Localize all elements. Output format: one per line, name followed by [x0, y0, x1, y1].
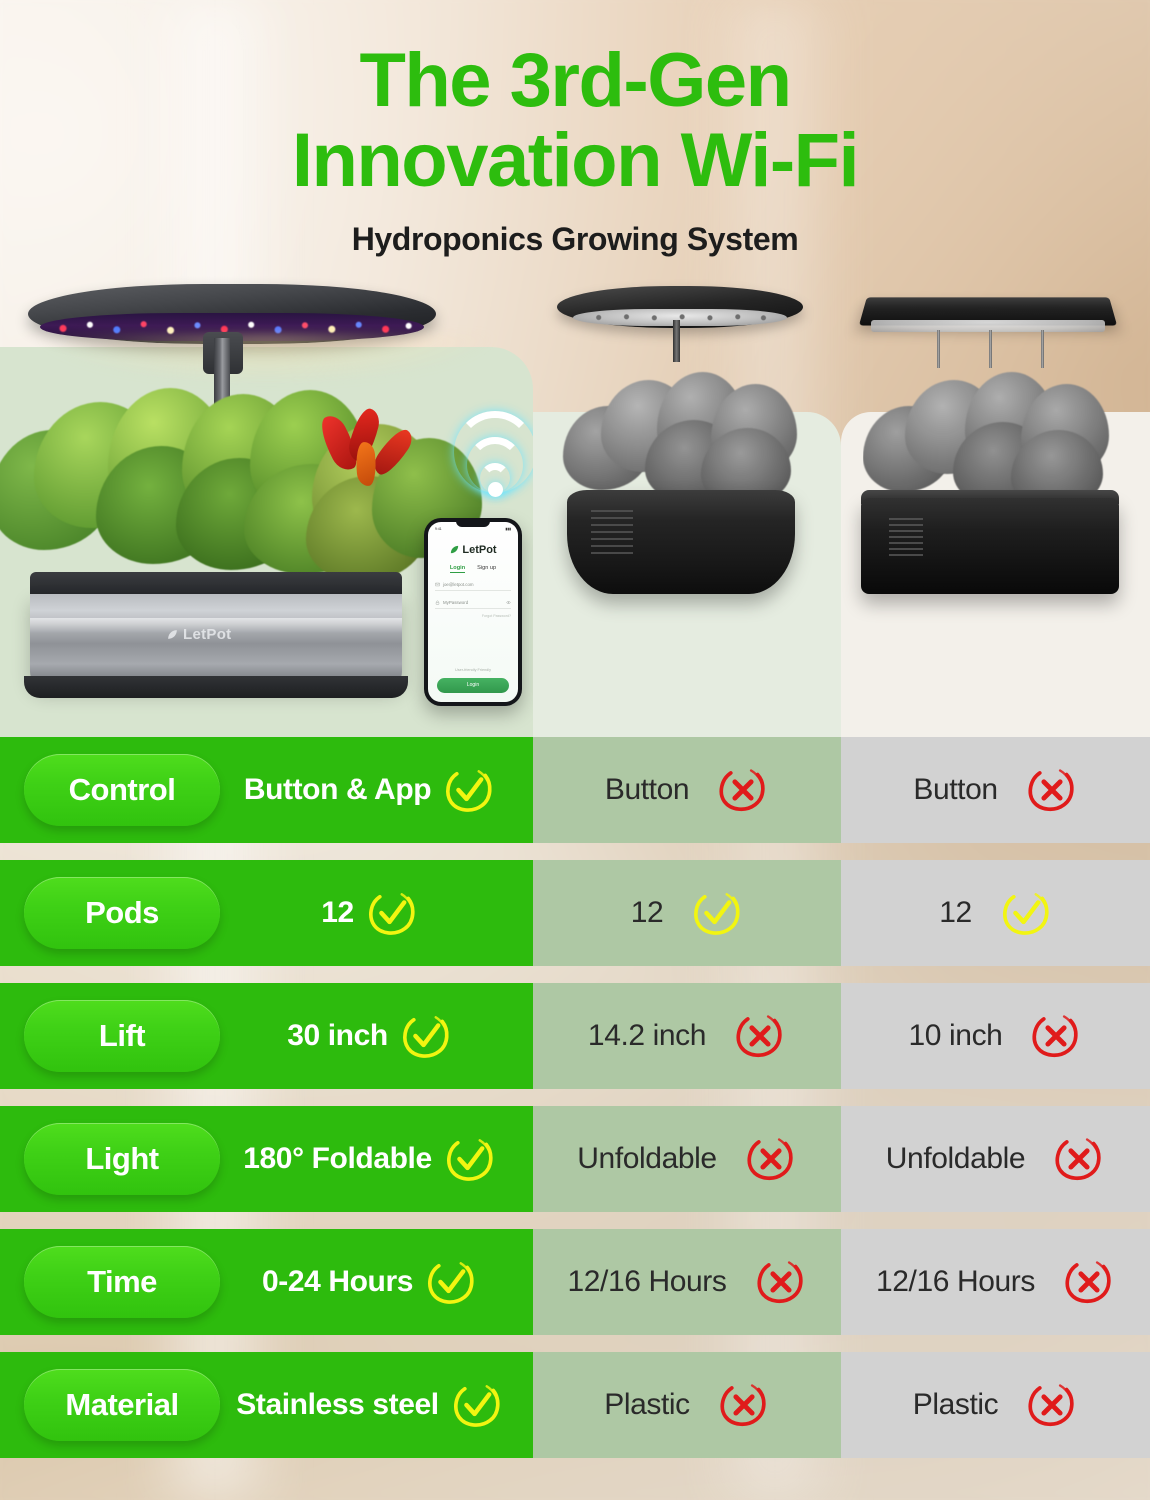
cell-competitor-b: 14.2 inch	[533, 983, 841, 1089]
row-separator	[0, 1212, 1150, 1229]
cross-icon	[745, 1133, 797, 1185]
hero-value-group: 180° Foldable	[220, 1133, 533, 1185]
check-icon	[451, 1379, 503, 1431]
row-label: Light	[85, 1141, 158, 1177]
check-icon	[691, 887, 743, 939]
cell-hero: Light180° Foldable	[0, 1106, 533, 1212]
competitor-c-value: Plastic	[913, 1388, 999, 1422]
comparison-table: ControlButton & AppButtonButtonPods12121…	[0, 737, 1150, 1458]
product-competitor-b	[533, 272, 841, 737]
page-title: The 3rd-Gen Innovation Wi-Fi	[0, 44, 1150, 199]
leaf-icon	[449, 544, 460, 555]
competitor-b-pole	[673, 320, 680, 362]
device-foot	[24, 676, 408, 698]
row-label-pill: Light	[24, 1123, 220, 1195]
cell-competitor-c: 12	[841, 860, 1150, 966]
competitor-b-device	[533, 272, 841, 737]
app-tabs: Login Sign up	[435, 565, 511, 573]
cell-hero: ControlButton & App	[0, 737, 533, 843]
competitor-b-value: 12/16 Hours	[567, 1265, 726, 1299]
row-label-pill: Material	[24, 1369, 220, 1441]
row-separator	[0, 1335, 1150, 1352]
cell-hero: Time0-24 Hours	[0, 1229, 533, 1335]
cross-icon	[1030, 1010, 1082, 1062]
competitor-b-value: 14.2 inch	[588, 1019, 706, 1053]
comparison-row: Time0-24 Hours12/16 Hours12/16 Hours	[0, 1229, 1150, 1335]
forgot-password-link[interactable]: Forgot Password?	[435, 614, 511, 618]
cross-icon	[1063, 1256, 1115, 1308]
check-icon	[400, 1010, 452, 1062]
check-icon	[443, 764, 495, 816]
page-subtitle: Hydroponics Growing System	[0, 221, 1150, 258]
email-value: joe@letpot.com	[443, 582, 474, 587]
cell-hero: Lift30 inch	[0, 983, 533, 1089]
cell-competitor-b: 12/16 Hours	[533, 1229, 841, 1335]
competitor-b-value: Plastic	[604, 1388, 690, 1422]
hero-value-group: Button & App	[220, 764, 533, 816]
competitor-b-value: 12	[631, 896, 664, 930]
eye-icon[interactable]	[506, 600, 511, 605]
title-line-1: The 3rd-Gen	[359, 38, 790, 123]
product-competitor-c	[841, 272, 1150, 737]
hero-value-group: 12	[220, 887, 533, 939]
row-label: Control	[69, 772, 176, 808]
cell-competitor-b: Plastic	[533, 1352, 841, 1458]
hero-value-group: Stainless steel	[220, 1379, 533, 1431]
competitor-b-control-panel	[591, 510, 633, 554]
competitor-c-value-group: 12	[939, 887, 1052, 939]
page-header: The 3rd-Gen Innovation Wi-Fi Hydroponics…	[0, 0, 1150, 258]
competitor-c-device	[841, 272, 1150, 737]
competitor-c-value-group: 12/16 Hours	[876, 1256, 1115, 1308]
competitor-c-value-group: 10 inch	[909, 1010, 1083, 1062]
wifi-dot	[488, 482, 503, 497]
brand-logo: LetPot	[166, 626, 231, 643]
phone-screen: 9:41 ▮▮▮ LetPot Login Sign up	[428, 522, 518, 702]
app-brand: LetPot	[435, 544, 511, 556]
row-label: Lift	[99, 1018, 145, 1054]
competitor-c-value: 12/16 Hours	[876, 1265, 1035, 1299]
hero-value-group: 0-24 Hours	[220, 1256, 533, 1308]
row-separator	[0, 966, 1150, 983]
leaf-icon	[166, 628, 179, 641]
row-separator	[0, 843, 1150, 860]
title-line-2: Innovation Wi-Fi	[0, 124, 1150, 198]
competitor-b-led-panel	[573, 309, 787, 326]
product-hero: LetPot 9:41 ▮▮▮	[0, 272, 533, 737]
competitor-b-value-group: Unfoldable	[577, 1133, 796, 1185]
check-icon	[1000, 887, 1052, 939]
check-icon	[444, 1133, 496, 1185]
competitor-b-value-group: Button	[605, 764, 769, 816]
email-field[interactable]: joe@letpot.com	[435, 580, 511, 591]
competitor-c-foliage	[863, 360, 1128, 510]
cell-competitor-b: Unfoldable	[533, 1106, 841, 1212]
cell-competitor-c: Plastic	[841, 1352, 1150, 1458]
check-icon	[425, 1256, 477, 1308]
competitor-b-value: Button	[605, 773, 689, 807]
cell-competitor-c: 12/16 Hours	[841, 1229, 1150, 1335]
row-label-pill: Lift	[24, 1000, 220, 1072]
hero-device: LetPot 9:41 ▮▮▮	[0, 272, 533, 737]
row-label-pill: Control	[24, 754, 220, 826]
cross-icon	[1053, 1133, 1105, 1185]
phone-notch	[456, 520, 490, 527]
hero-value: 180° Foldable	[243, 1142, 432, 1176]
cross-icon	[755, 1256, 807, 1308]
cell-competitor-c: Button	[841, 737, 1150, 843]
eco-note: User-friendly Friendly	[428, 668, 518, 672]
lock-icon	[435, 600, 440, 605]
hero-value: 0-24 Hours	[262, 1265, 413, 1299]
cell-competitor-b: Button	[533, 737, 841, 843]
competitor-c-value-group: Button	[913, 764, 1077, 816]
password-field[interactable]: MyPassword	[435, 598, 511, 609]
competitor-c-value: 10 inch	[909, 1019, 1003, 1053]
competitor-c-value: Unfoldable	[886, 1142, 1025, 1176]
hero-value: Button & App	[244, 773, 431, 807]
phone-status-bar: 9:41 ▮▮▮	[435, 527, 511, 531]
comparison-row: MaterialStainless steelPlasticPlastic	[0, 1352, 1150, 1458]
cross-icon	[1026, 764, 1078, 816]
password-value: MyPassword	[443, 600, 503, 605]
hero-value: Stainless steel	[236, 1388, 438, 1422]
app-brand-text: LetPot	[462, 544, 496, 556]
row-label: Material	[65, 1387, 178, 1423]
row-separator	[0, 1089, 1150, 1106]
cell-competitor-b: 12	[533, 860, 841, 966]
status-time: 9:41	[435, 527, 442, 531]
competitor-b-light-hood	[557, 286, 803, 328]
competitor-b-foliage	[561, 358, 813, 508]
competitor-c-value: 12	[939, 896, 972, 930]
check-icon	[366, 887, 418, 939]
cross-icon	[718, 1379, 770, 1431]
competitor-b-value-group: 12/16 Hours	[567, 1256, 806, 1308]
hero-value-group: 30 inch	[220, 1010, 533, 1062]
cross-icon	[1026, 1379, 1078, 1431]
comparison-row: ControlButton & AppButtonButton	[0, 737, 1150, 843]
competitor-c-control-panel	[889, 518, 923, 556]
comparison-row: Pods121212	[0, 860, 1150, 966]
row-label-pill: Time	[24, 1246, 220, 1318]
competitor-b-value-group: 14.2 inch	[588, 1010, 786, 1062]
competitor-c-value-group: Unfoldable	[886, 1133, 1105, 1185]
hero-value: 30 inch	[287, 1019, 388, 1053]
row-label-pill: Pods	[24, 877, 220, 949]
competitor-b-value-group: Plastic	[604, 1379, 770, 1431]
competitor-b-value-group: 12	[631, 887, 744, 939]
product-showcase: LetPot 9:41 ▮▮▮	[0, 272, 1150, 737]
comparison-row: Lift30 inch14.2 inch10 inch	[0, 983, 1150, 1089]
row-label: Time	[87, 1264, 157, 1300]
competitor-c-value-group: Plastic	[913, 1379, 1079, 1431]
competitor-c-led-surface	[871, 320, 1105, 332]
cell-hero: MaterialStainless steel	[0, 1352, 533, 1458]
competitor-c-value: Button	[913, 773, 997, 807]
brand-logo-text: LetPot	[183, 626, 231, 643]
smartphone-mockup: 9:41 ▮▮▮ LetPot Login Sign up	[424, 518, 522, 706]
cell-competitor-c: Unfoldable	[841, 1106, 1150, 1212]
competitor-b-value: Unfoldable	[577, 1142, 716, 1176]
cross-icon	[717, 764, 769, 816]
row-label: Pods	[85, 895, 159, 931]
status-icons: ▮▮▮	[505, 527, 511, 531]
cross-icon	[734, 1010, 786, 1062]
tab-signup[interactable]: Sign up	[477, 565, 496, 573]
wifi-icon	[450, 427, 540, 499]
cell-hero: Pods12	[0, 860, 533, 966]
cell-competitor-c: 10 inch	[841, 983, 1150, 1089]
comparison-row: Light180° FoldableUnfoldableUnfoldable	[0, 1106, 1150, 1212]
tab-login[interactable]: Login	[450, 565, 465, 573]
envelope-icon	[435, 582, 440, 587]
hero-value: 12	[321, 896, 354, 930]
login-button[interactable]: Login	[437, 678, 509, 693]
